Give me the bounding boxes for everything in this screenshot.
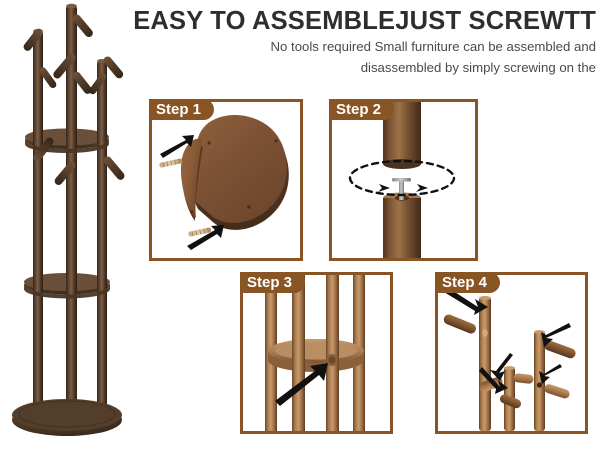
screw-top bbox=[159, 158, 183, 168]
hook-attached-right bbox=[513, 373, 534, 384]
step-1-illustration bbox=[152, 102, 300, 258]
hook-piece-low-right bbox=[543, 383, 571, 400]
step-4-tab: Step 4 bbox=[435, 272, 500, 293]
hook-piece-top-left bbox=[442, 313, 477, 335]
post-left bbox=[292, 275, 305, 431]
step-4-panel[interactable]: Step 4 bbox=[435, 272, 588, 434]
connector-knob bbox=[326, 354, 338, 366]
post-right bbox=[326, 275, 339, 431]
step-2-tab: Step 2 bbox=[329, 99, 394, 120]
step-2-panel[interactable]: Step 2 bbox=[329, 99, 478, 261]
step-1-panel[interactable]: Step 1 bbox=[149, 99, 303, 261]
step-3-panel[interactable]: Step 3 bbox=[240, 272, 393, 434]
subtitle-line-1: No tools required Small furniture can be… bbox=[100, 36, 596, 57]
pole-tall-left bbox=[479, 296, 491, 431]
lower-pole bbox=[383, 193, 421, 259]
promo-graphic: EASY TO ASSEMBLEJUST SCREWTT No tools re… bbox=[0, 0, 600, 450]
subtitle-line-2: disassembled by simply screwing on the bbox=[100, 57, 596, 78]
step-3-illustration bbox=[243, 275, 390, 431]
base-disc bbox=[191, 115, 289, 230]
step-4-illustration bbox=[438, 275, 585, 431]
rack-post-left bbox=[33, 29, 43, 420]
step-2-illustration bbox=[332, 102, 475, 258]
step-1-tab: Step 1 bbox=[149, 99, 214, 120]
step-3-tab: Step 3 bbox=[240, 272, 305, 293]
rack-post-right bbox=[97, 59, 107, 420]
page-title: EASY TO ASSEMBLEJUST SCREWTT bbox=[100, 6, 596, 36]
header-block: EASY TO ASSEMBLEJUST SCREWTT No tools re… bbox=[100, 6, 596, 78]
